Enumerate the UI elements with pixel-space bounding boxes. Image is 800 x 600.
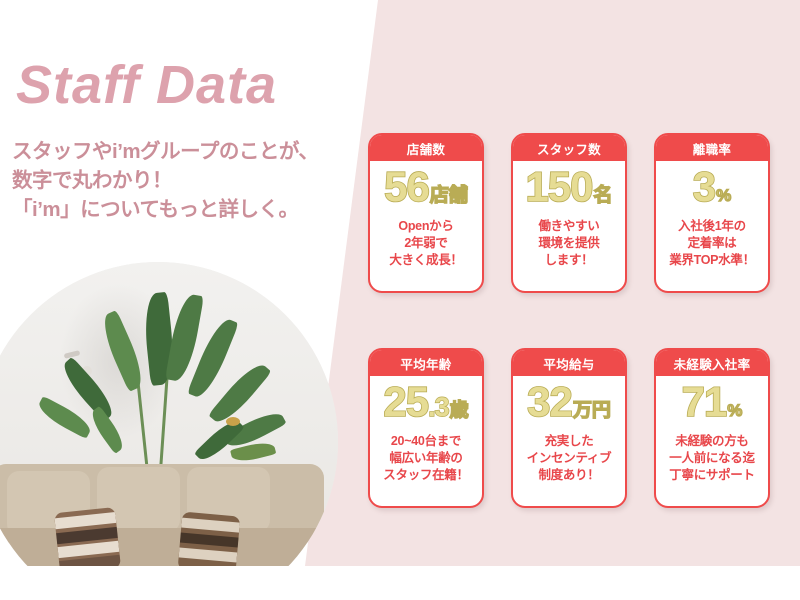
- card-header: 平均年齢: [370, 350, 482, 376]
- card-figure: 25.3歳: [383, 381, 468, 427]
- subtitle-line-2: 数字で丸わかり！: [12, 166, 318, 195]
- stat-card-inexperienced-hire-rate[interactable]: 未経験入社率 71% 未経験の方も一人前になる迄丁寧にサポート: [654, 348, 770, 508]
- stat-card-staff-count[interactable]: スタッフ数 150名 働きやすい環境を提供します！: [511, 133, 627, 293]
- card-figure: 150名: [525, 166, 612, 212]
- page-title: Staff Data: [16, 58, 277, 112]
- page-subtitle: スタッフやi’mグループのことが、 数字で丸わかり！ 「i’m」についてもっと詳…: [12, 137, 318, 224]
- card-header: 平均給与: [513, 350, 625, 376]
- stat-card-turnover-rate[interactable]: 離職率 3% 入社後1年の定着率は業界TOP水準！: [654, 133, 770, 293]
- subtitle-line-3: 「i’m」についてもっと詳しく。: [12, 195, 318, 224]
- card-figure: 56店舗: [384, 166, 468, 212]
- card-description: 20~40台まで幅広い年齢のスタッフ在籍！: [383, 433, 468, 484]
- infographic-root: Staff Data スタッフやi’mグループのことが、 数字で丸わかり！ 「i…: [0, 0, 800, 600]
- staff-photo: [0, 262, 338, 600]
- stat-card-average-salary[interactable]: 平均給与 32万円 充実したインセンティブ制度あり！: [511, 348, 627, 508]
- card-header: 未経験入社率: [656, 350, 768, 376]
- header-text-block: Staff Data スタッフやi’mグループのことが、 数字で丸わかり！ 「i…: [0, 0, 378, 240]
- card-description: 入社後1年の定着率は業界TOP水準！: [669, 218, 755, 269]
- stat-card-average-age[interactable]: 平均年齢 25.3歳 20~40台まで幅広い年齢のスタッフ在籍！: [368, 348, 484, 508]
- card-description: 未経験の方も一人前になる迄丁寧にサポート: [669, 433, 754, 484]
- card-figure: 32万円: [527, 381, 611, 427]
- card-figure: 71%: [682, 381, 743, 427]
- stat-card-store-count[interactable]: 店舗数 56店舗 Openから2年弱で大きく成長！: [368, 133, 484, 293]
- card-description: Openから2年弱で大きく成長！: [389, 218, 462, 269]
- card-description: 働きやすい環境を提供します！: [538, 218, 599, 269]
- bottom-white-band: [0, 566, 800, 600]
- subtitle-line-1: スタッフやi’mグループのことが、: [12, 137, 318, 166]
- card-header: 店舗数: [370, 135, 482, 161]
- card-header: スタッフ数: [513, 135, 625, 161]
- card-header: 離職率: [656, 135, 768, 161]
- card-figure: 3%: [693, 166, 731, 212]
- card-description: 充実したインセンティブ制度あり！: [527, 433, 612, 484]
